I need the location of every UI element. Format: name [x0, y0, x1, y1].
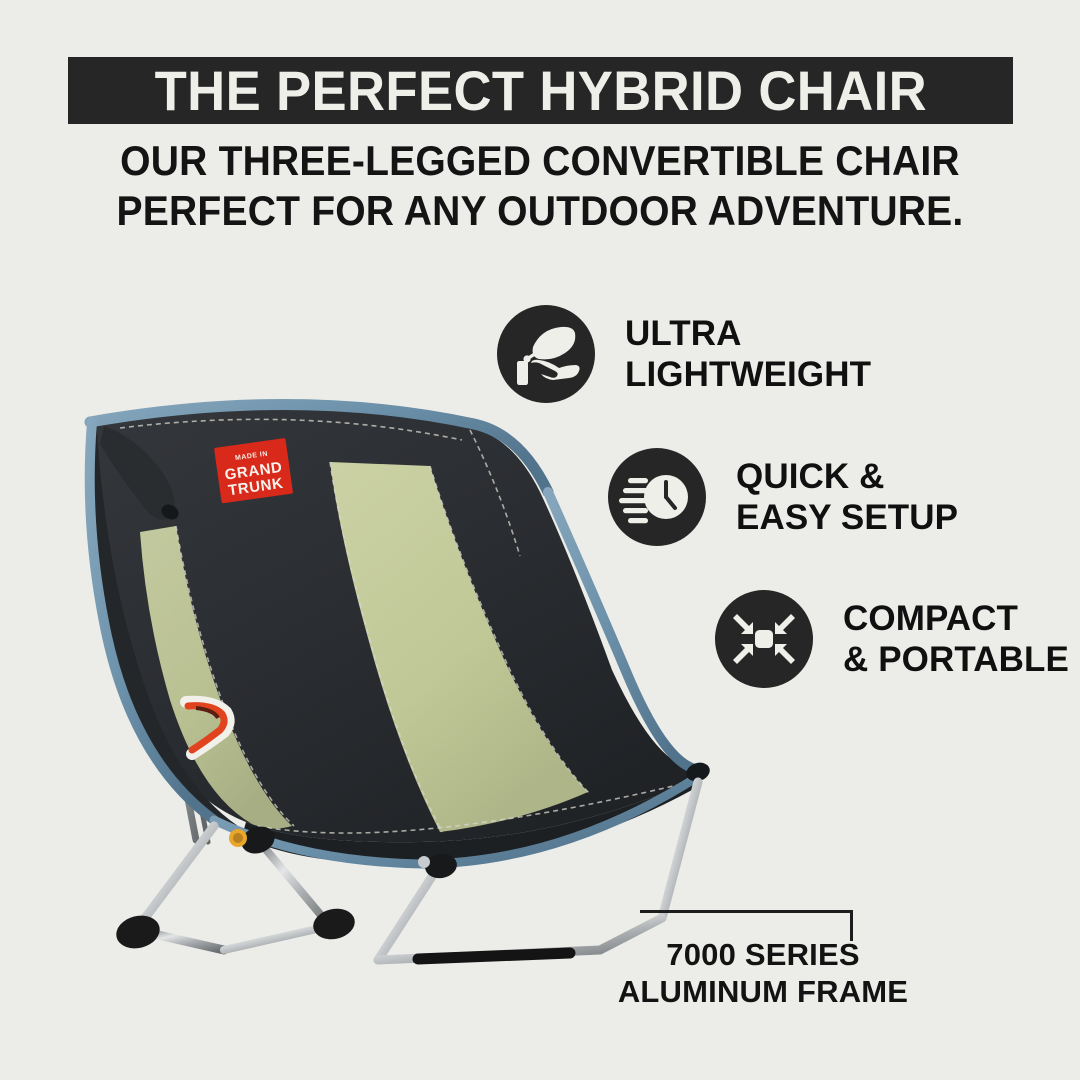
subheadline-line-2: PERFECT FOR ANY OUTDOOR ADVENTURE. — [38, 186, 1042, 236]
headline-banner: THE PERFECT HYBRID CHAIR — [68, 57, 1013, 124]
feature-compact-portable[interactable]: COMPACT & PORTABLE — [715, 590, 1069, 688]
brand-label-patch: MADE IN GRAND TRUNK — [214, 438, 293, 503]
infographic-canvas: THE PERFECT HYBRID CHAIR OUR THREE-LEGGE… — [0, 0, 1080, 1080]
callout-line-2: ALUMINUM FRAME — [598, 973, 928, 1010]
feature-label-line-2: & PORTABLE — [843, 639, 1069, 680]
feature-label-line-1: COMPACT — [843, 598, 1069, 639]
callout-text: 7000 SERIES ALUMINUM FRAME — [598, 936, 928, 1010]
subheadline-line-1: OUR THREE-LEGGED CONVERTIBLE CHAIR — [38, 136, 1042, 186]
foot-hub-left — [113, 911, 163, 953]
feature-label-line-1: QUICK & — [736, 456, 958, 497]
speed-clock-icon — [608, 448, 706, 546]
feature-label: QUICK & EASY SETUP — [736, 456, 958, 538]
feature-icon-disc — [497, 305, 595, 403]
feather-in-hand-icon — [497, 305, 595, 403]
ferrule-yellow-inner — [233, 833, 243, 843]
feature-label: COMPACT & PORTABLE — [843, 598, 1069, 680]
feature-ultra-lightweight[interactable]: ULTRA LIGHTWEIGHT — [497, 305, 871, 403]
callout-line-1: 7000 SERIES — [598, 936, 928, 973]
feature-label-line-2: EASY SETUP — [736, 497, 958, 538]
feature-quick-easy-setup[interactable]: QUICK & EASY SETUP — [608, 448, 958, 546]
feature-icon-disc — [608, 448, 706, 546]
compress-arrows-icon — [715, 590, 813, 688]
feature-label: ULTRA LIGHTWEIGHT — [625, 313, 871, 395]
page-title: THE PERFECT HYBRID CHAIR — [154, 63, 926, 119]
feature-label-line-1: ULTRA — [625, 313, 871, 354]
feature-icon-disc — [715, 590, 813, 688]
subheadline: OUR THREE-LEGGED CONVERTIBLE CHAIR PERFE… — [0, 136, 1080, 236]
rubber-grip-sleeve — [418, 953, 570, 959]
feature-label-line-2: LIGHTWEIGHT — [625, 354, 871, 395]
hub-pin-right — [418, 856, 430, 868]
